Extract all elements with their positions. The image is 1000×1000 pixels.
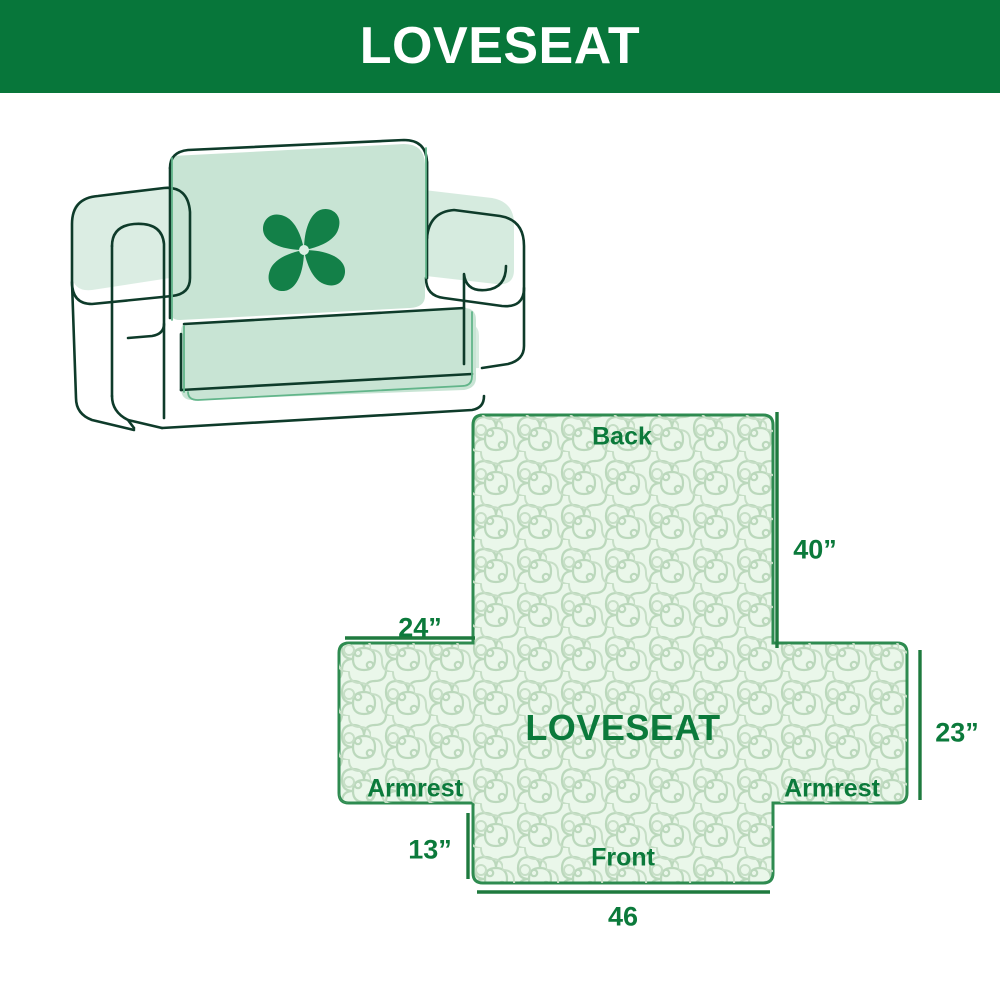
pattern-svg: [320, 395, 1000, 955]
header-banner: LOVESEAT: [0, 0, 1000, 93]
pattern-cross-shape: [339, 415, 907, 883]
sofa-right-arm-fill: [424, 190, 514, 284]
sofa-left-arm-fill: [72, 186, 170, 290]
flat-pattern-diagram: Back LOVESEAT Armrest Armrest Front 40” …: [320, 395, 1000, 955]
page-title: LOVESEAT: [360, 20, 640, 72]
